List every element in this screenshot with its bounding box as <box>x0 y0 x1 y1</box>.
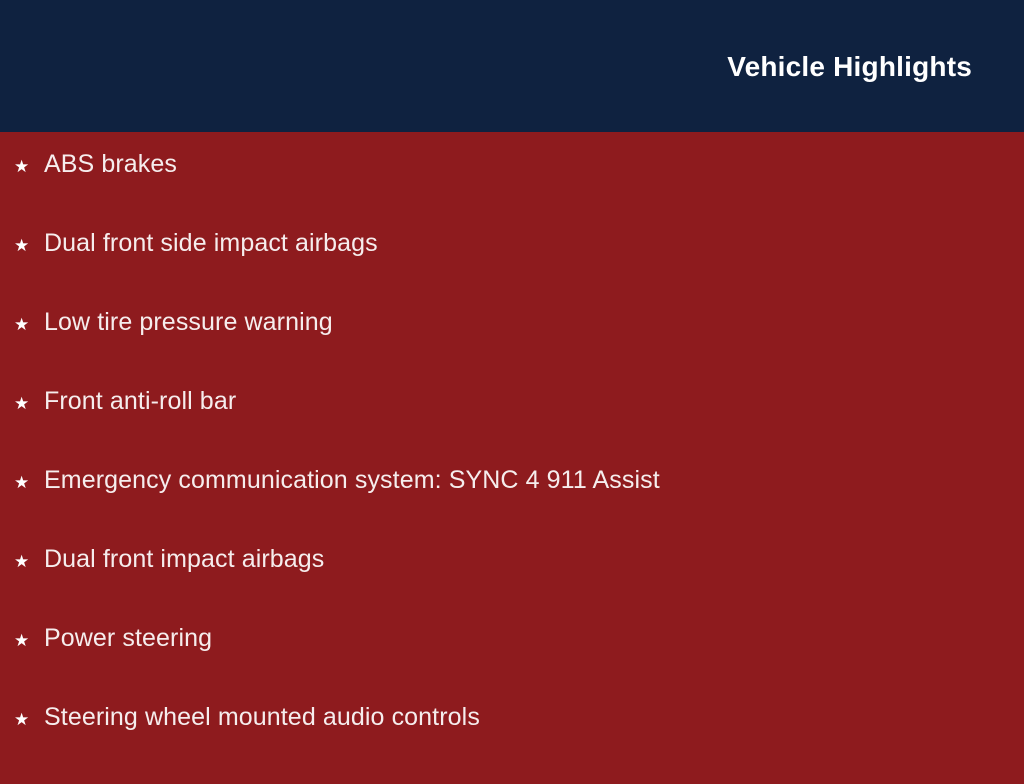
list-item-label: Front anti-roll bar <box>44 389 236 414</box>
vehicle-highlights-slide: Vehicle Highlights ★ ABS brakes ★ Dual f… <box>0 0 1024 768</box>
list-item-label: Low tire pressure warning <box>44 310 333 335</box>
list-item-label: Dual front impact airbags <box>44 547 324 572</box>
list-item: ★ Dual front impact airbags <box>0 547 1024 626</box>
list-item-label: Steering wheel mounted audio controls <box>44 705 480 730</box>
star-icon: ★ <box>14 237 44 254</box>
star-icon: ★ <box>14 316 44 333</box>
list-item: ★ Emergency communication system: SYNC 4… <box>0 468 1024 547</box>
page-title: Vehicle Highlights <box>727 53 972 81</box>
list-item-label: Power steering <box>44 626 212 651</box>
list-item: ★ Low tire pressure warning <box>0 310 1024 389</box>
star-icon: ★ <box>14 632 44 649</box>
list-item: ★ Dual front side impact airbags <box>0 231 1024 310</box>
list-item: ★ Front anti-roll bar <box>0 389 1024 468</box>
slide-header: Vehicle Highlights <box>0 0 1024 132</box>
list-item-label: Dual front side impact airbags <box>44 231 378 256</box>
vehicle-highlights-list: ★ ABS brakes ★ Dual front side impact ai… <box>0 152 1024 784</box>
list-item: ★ ABS brakes <box>0 152 1024 231</box>
star-icon: ★ <box>14 711 44 728</box>
list-item: ★ Steering wheel mounted audio controls <box>0 705 1024 784</box>
star-icon: ★ <box>14 395 44 412</box>
list-item-label: Emergency communication system: SYNC 4 9… <box>44 468 660 493</box>
slide-body: ★ ABS brakes ★ Dual front side impact ai… <box>0 132 1024 768</box>
star-icon: ★ <box>14 553 44 570</box>
star-icon: ★ <box>14 158 44 175</box>
list-item: ★ Power steering <box>0 626 1024 705</box>
list-item-label: ABS brakes <box>44 152 177 177</box>
star-icon: ★ <box>14 474 44 491</box>
